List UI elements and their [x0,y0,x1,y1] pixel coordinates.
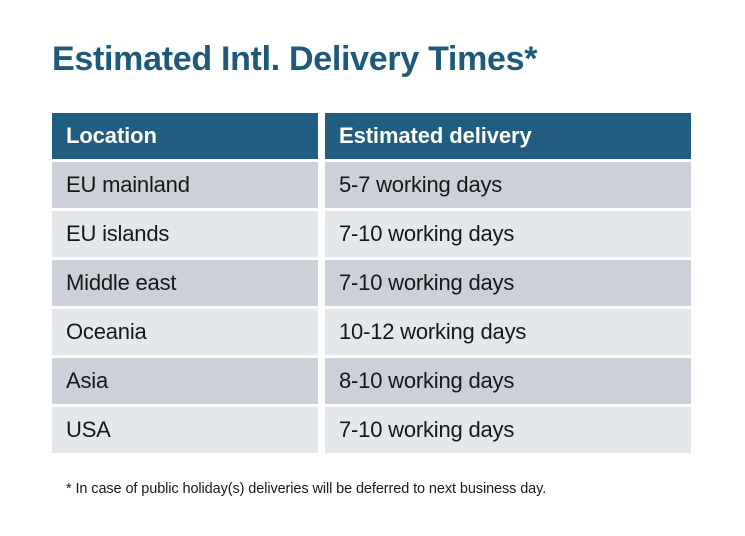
delivery-times-page: Estimated Intl. Delivery Times* Location… [0,0,745,536]
column-gap [318,162,325,208]
footnote: * In case of public holiday(s) deliverie… [66,481,546,497]
column-gap [318,113,325,159]
table-row: Asia 8-10 working days [52,358,691,404]
cell-location: Oceania [52,309,318,355]
column-gap [318,211,325,257]
cell-location: Asia [52,358,318,404]
table-row: EU mainland 5-7 working days [52,162,691,208]
column-gap [318,260,325,306]
cell-estimated-delivery: 8-10 working days [325,358,691,404]
delivery-times-table: Location Estimated delivery EU mainland … [52,113,691,456]
table-row: EU islands 7-10 working days [52,211,691,257]
cell-estimated-delivery: 5-7 working days [325,162,691,208]
page-title: Estimated Intl. Delivery Times* [52,38,537,80]
column-gap [318,358,325,404]
cell-location: Middle east [52,260,318,306]
cell-estimated-delivery: 7-10 working days [325,211,691,257]
table-row: USA 7-10 working days [52,407,691,453]
cell-location: USA [52,407,318,453]
column-header-location: Location [52,113,318,159]
cell-location: EU islands [52,211,318,257]
cell-location: EU mainland [52,162,318,208]
table-header-row: Location Estimated delivery [52,113,691,159]
cell-estimated-delivery: 7-10 working days [325,260,691,306]
table-row: Oceania 10-12 working days [52,309,691,355]
cell-estimated-delivery: 7-10 working days [325,407,691,453]
column-header-estimated-delivery: Estimated delivery [325,113,691,159]
table-row: Middle east 7-10 working days [52,260,691,306]
cell-estimated-delivery: 10-12 working days [325,309,691,355]
column-gap [318,309,325,355]
column-gap [318,407,325,453]
